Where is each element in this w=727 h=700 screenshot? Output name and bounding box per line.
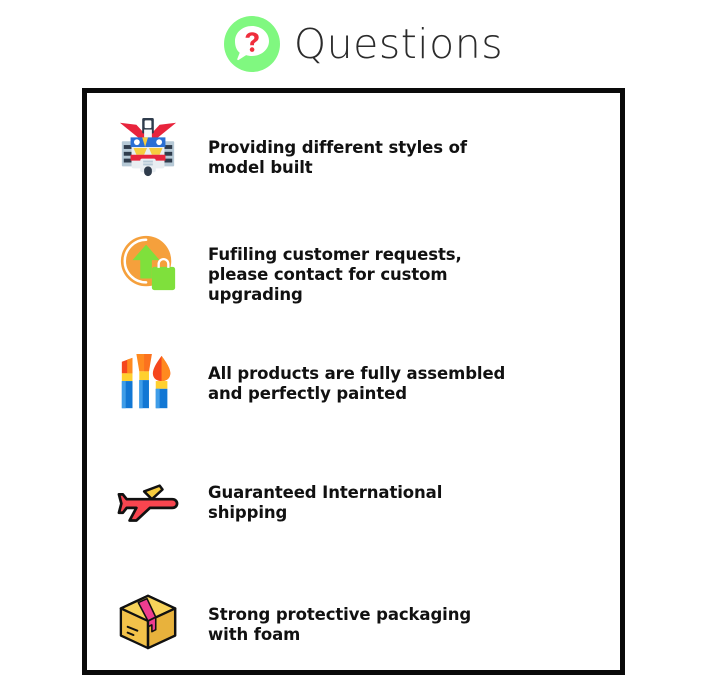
list-item-label: All products are fully assembled and per…	[208, 364, 508, 404]
faq-list: Providing different styles of model buil…	[87, 93, 620, 670]
page-header: Questions	[0, 0, 727, 88]
question-speech-bubble-icon	[224, 16, 280, 72]
list-item-label: Strong protective packaging with foam	[208, 605, 508, 645]
list-item: All products are fully assembled and per…	[87, 349, 620, 415]
page-title: Questions	[294, 24, 503, 65]
list-item-label: Providing different styles of model buil…	[208, 138, 508, 178]
list-item: Providing different styles of model buil…	[87, 113, 620, 179]
gundam-robot-head-icon	[117, 115, 179, 179]
list-item: Fufiling customer requests, please conta…	[87, 229, 620, 305]
questions-panel: Providing different styles of model buil…	[82, 88, 625, 675]
airplane-icon	[117, 473, 179, 537]
package-box-icon	[117, 589, 179, 653]
list-item: Guaranteed International shipping	[87, 471, 620, 537]
paint-brushes-icon	[117, 351, 179, 415]
list-item-label: Guaranteed International shipping	[208, 483, 508, 523]
list-item-label: Fufiling customer requests, please conta…	[208, 245, 508, 305]
upgrade-shopping-bag-icon	[117, 231, 179, 295]
list-item: Strong protective packaging with foam	[87, 587, 620, 653]
